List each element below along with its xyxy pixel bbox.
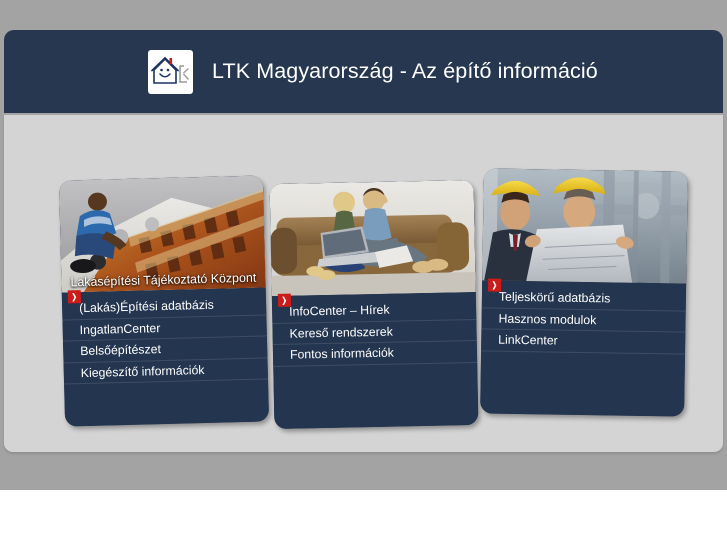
couple-on-sofa-with-laptop-photo bbox=[270, 180, 476, 296]
card-lakasepitesi-tajekoztato-kozpont[interactable]: Lakásépítési Tájékoztató Központ ❯ (Laká… bbox=[59, 175, 269, 426]
card-teljeskoru-adatbazis[interactable]: ❯ Teljeskörű adatbázis Hasznos modulok L… bbox=[480, 168, 688, 416]
header-brand: LTK Magyarország - Az építő információ bbox=[148, 50, 598, 94]
card-photo bbox=[482, 168, 688, 283]
red-chevron-right-badge-icon: ❯ bbox=[488, 278, 501, 291]
red-chevron-right-badge-icon: ❯ bbox=[68, 290, 81, 303]
bottom-white-strip bbox=[0, 490, 727, 545]
card-link-list: (Lakás)Építési adatbázis IngatlanCenter … bbox=[62, 287, 269, 426]
card-link-list: Teljeskörű adatbázis Hasznos modulok Lin… bbox=[480, 280, 686, 416]
card-photo bbox=[270, 180, 476, 296]
list-item[interactable]: Kiegészítő információk bbox=[64, 358, 268, 385]
list-item[interactable]: Fontos információk bbox=[273, 341, 477, 367]
card-link-list: InfoCenter – Hírek Kereső rendszerek Fon… bbox=[272, 292, 479, 429]
page-title: LTK Magyarország - Az építő információ bbox=[212, 59, 598, 84]
card-infocenter[interactable]: ❯ InfoCenter – Hírek Kereső rendszerek F… bbox=[270, 180, 479, 429]
page-root: LTK Magyarország - Az építő információ bbox=[0, 0, 727, 545]
house-smiley-ltk-logo-icon bbox=[150, 53, 191, 91]
ltk-logo-icon bbox=[148, 50, 193, 94]
list-item[interactable]: LinkCenter bbox=[481, 329, 685, 354]
app-header: LTK Magyarország - Az építő információ bbox=[4, 30, 723, 113]
two-engineers-with-hardhats-and-blueprint-photo bbox=[482, 168, 688, 283]
card-photo: Lakásépítési Tájékoztató Központ bbox=[59, 175, 266, 292]
list-item[interactable]: Teljeskörű adatbázis bbox=[482, 286, 686, 311]
red-chevron-right-badge-icon: ❯ bbox=[278, 294, 291, 307]
